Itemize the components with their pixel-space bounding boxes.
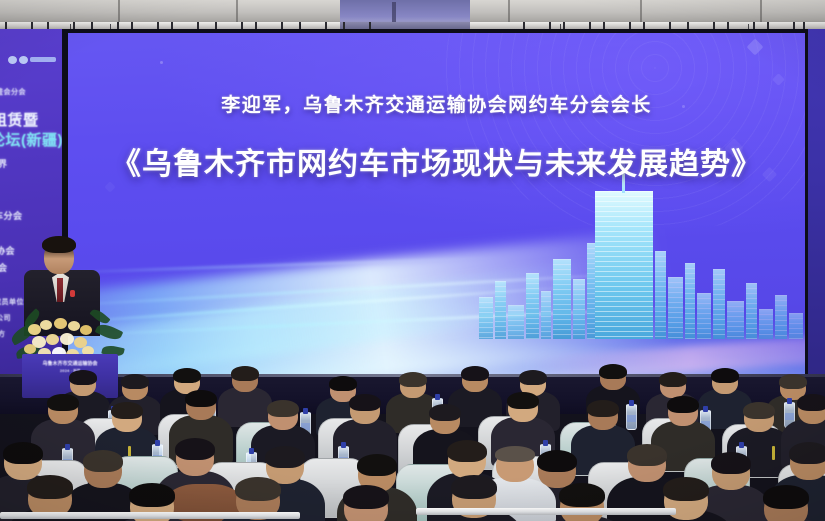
audience-area bbox=[0, 352, 825, 521]
audience-member-hair bbox=[797, 394, 825, 411]
audience-member-hair bbox=[173, 368, 201, 383]
lanyard bbox=[772, 446, 775, 460]
conference-photo: 盛会分会 租赁暨 论坛(新疆) 界 车分会 协会 会 成员单位 公司 方 bbox=[0, 0, 825, 521]
audience-member-hair bbox=[743, 402, 775, 419]
speaker-badge bbox=[70, 290, 75, 297]
flower-leaf bbox=[95, 321, 124, 343]
flower-petal bbox=[60, 333, 74, 345]
audience-member-hair bbox=[663, 477, 709, 501]
table-edge bbox=[0, 512, 300, 519]
audience-member-hair bbox=[343, 485, 389, 509]
side-banner-line-1: 租赁暨 bbox=[0, 109, 39, 130]
audience-member-hair bbox=[111, 402, 143, 419]
sparkle bbox=[602, 199, 605, 202]
side-banner-line-0: 盛会分会 bbox=[0, 87, 26, 97]
audience-member-hair bbox=[27, 475, 73, 499]
speaker-tie bbox=[57, 278, 63, 302]
flower-leaf bbox=[89, 307, 110, 327]
diamond-particle bbox=[104, 181, 115, 192]
audience-member-hair bbox=[69, 370, 97, 385]
audience-member-hair bbox=[659, 372, 687, 387]
side-banner-line-3: 界 bbox=[0, 157, 8, 170]
presentation-title: 《乌鲁木齐市网约车市场现状与未来发展趋势》 bbox=[68, 139, 805, 183]
flower-petal bbox=[54, 318, 67, 329]
led-screen: 李迎军，乌鲁木齐交通运输协会网约车分会会长 《乌鲁木齐市网约车市场现状与未来发展… bbox=[68, 33, 805, 377]
audience-member-hair bbox=[429, 404, 461, 421]
audience-member-hair bbox=[627, 444, 667, 466]
audience-member-hair bbox=[185, 390, 217, 407]
speaker-credential-line: 李迎军，乌鲁木齐交通运输协会网约车分会会长 bbox=[68, 90, 805, 117]
audience-member-hair bbox=[789, 442, 825, 464]
audience-member-hair bbox=[129, 483, 175, 507]
audience-member-hair bbox=[47, 394, 79, 411]
event-logo bbox=[8, 55, 56, 64]
audience-member-hair bbox=[507, 392, 539, 409]
audience-member-hair bbox=[587, 400, 619, 417]
audience-member-hair bbox=[461, 366, 489, 381]
audience-member-hair bbox=[495, 446, 535, 462]
audience-member-hair bbox=[519, 370, 547, 385]
audience-member-hair bbox=[667, 396, 699, 413]
audience-member-hair bbox=[329, 376, 357, 391]
side-banner-line-4: 车分会 bbox=[0, 209, 23, 222]
audience-member-hair bbox=[711, 452, 751, 474]
audience-member-hair bbox=[447, 440, 487, 462]
flower-petal bbox=[68, 321, 80, 331]
flower-petal bbox=[28, 324, 41, 335]
speaker-hair bbox=[42, 236, 76, 253]
flower-petal bbox=[46, 334, 59, 345]
flower-petal bbox=[80, 325, 92, 335]
audience-member-hair bbox=[267, 400, 299, 417]
audience-member-hair bbox=[537, 450, 577, 472]
audience-member-hair bbox=[451, 475, 497, 499]
sparkle bbox=[160, 61, 163, 64]
audience-member-hair bbox=[711, 368, 739, 383]
audience-member-hair bbox=[83, 450, 123, 472]
audience-member-hair bbox=[349, 394, 381, 411]
audience-member-hair bbox=[265, 446, 305, 468]
audience-member-hair bbox=[235, 477, 281, 501]
side-banner-line-2: 论坛(新疆) bbox=[0, 129, 62, 150]
audience-member-hair bbox=[599, 364, 627, 379]
audience-member-hair bbox=[231, 366, 259, 381]
water-bottle bbox=[626, 404, 637, 430]
audience-member-hair bbox=[779, 374, 807, 389]
audience-member-hair bbox=[3, 442, 43, 464]
flower-petal bbox=[40, 320, 52, 330]
audience-member-hair bbox=[399, 372, 427, 387]
audience-member-hair bbox=[357, 454, 397, 476]
table-edge bbox=[416, 508, 676, 515]
audience-member-hair bbox=[559, 483, 605, 507]
ripple-pattern bbox=[445, 33, 805, 233]
audience-member-hair bbox=[763, 485, 809, 509]
audience-member-hair bbox=[121, 374, 149, 389]
audience-member-hair bbox=[175, 438, 215, 460]
